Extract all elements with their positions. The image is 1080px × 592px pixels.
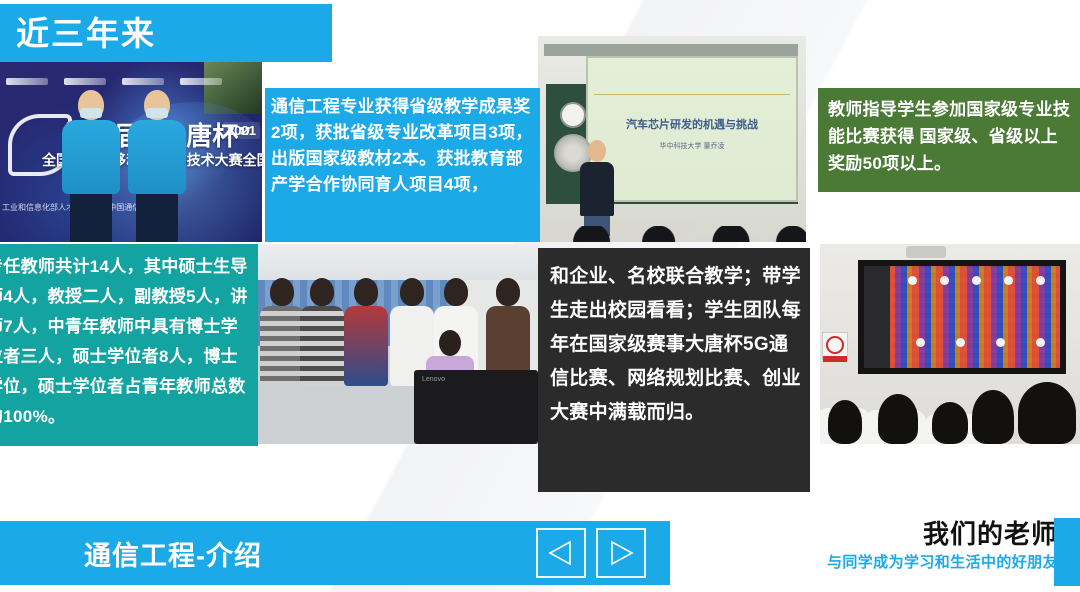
prev-slide-button[interactable] xyxy=(536,528,586,578)
photo-lecture-rail xyxy=(544,44,798,56)
footer-title: 通信工程-介绍 xyxy=(84,534,262,573)
photo-lecture-projection-screen: 汽车芯片研发的机遇与挑战 华中科技大学 董乔凌 xyxy=(586,56,798,202)
slide-root: 近三年来 第八届 “大唐杯” 全国大学生移动通信5G技术大赛全国总决赛 2021… xyxy=(0,0,1080,592)
photo-pcb-tool-panel xyxy=(864,266,890,368)
photo-competition-student-2 xyxy=(128,90,186,242)
text-block-teaching-body: 和企业、名校联合教学；带学生走出校园看看；学生团队每年在国家级赛事大唐杯5G通信… xyxy=(550,260,804,430)
header-banner: 近三年来 xyxy=(0,4,332,62)
text-block-faculty-body: 专任教师共计14人，其中硕士生导师4人，教授二人，副教授5人，讲师7人，中青年教… xyxy=(0,252,254,432)
text-block-awards: 教师指导学生参加国家级专业技能比赛获得 国家级、省级以上奖励50项以上。 xyxy=(818,88,1080,192)
text-block-achievements: 通信工程专业获得省级教学成果奖2项，获批省级专业改革项目3项，出版国家级教材2本… xyxy=(265,88,540,242)
photo-competition-year: 2021 xyxy=(223,122,260,139)
photo-competition-student-1 xyxy=(62,90,120,242)
photo-pcb-classroom xyxy=(820,244,1080,444)
monitor-brand-label: Lenovo xyxy=(422,376,445,383)
photo-lecture: 汽车芯片研发的机遇与挑战 华中科技大学 董乔凌 xyxy=(538,36,806,242)
photo-lecture-screen-org: 华中科技大学 董乔凌 xyxy=(588,142,796,152)
photo-competition-sponsor-logos xyxy=(6,76,246,87)
footer-right-accent-chip xyxy=(1054,518,1080,586)
footer-right-subtitle: 与同学成为学习和生活中的好朋友 xyxy=(827,552,1058,574)
triangle-left-icon xyxy=(547,539,575,567)
text-block-awards-body: 教师指导学生参加国家级专业技能比赛获得 国家级、省级以上奖励50项以上。 xyxy=(828,96,1072,177)
photo-competition: 第八届 “大唐杯” 全国大学生移动通信5G技术大赛全国总决赛 2021 工业和信… xyxy=(0,62,262,242)
no-smoking-sign-icon xyxy=(822,332,848,360)
triangle-right-icon xyxy=(607,539,635,567)
photo-lab: Lenovo xyxy=(258,244,540,444)
text-block-teaching: 和企业、名校联合教学；带学生走出校园看看；学生团队每年在国家级赛事大唐杯5G通信… xyxy=(538,248,810,492)
footer-bar: 通信工程-介绍 xyxy=(0,521,670,585)
photo-lecture-speaker xyxy=(580,140,614,236)
photo-lecture-audience xyxy=(538,226,806,242)
wall-clock-icon xyxy=(560,102,586,128)
photo-lab-person-2 xyxy=(300,278,344,386)
photo-lab-person-3 xyxy=(344,278,388,386)
photo-pcb-audience xyxy=(820,372,1080,444)
photo-lab-person-1 xyxy=(260,278,304,386)
footer-right-title: 我们的老师 xyxy=(827,518,1058,550)
page-title: 近三年来 xyxy=(16,17,156,50)
slide-navigation xyxy=(536,528,646,578)
photo-lecture-screen-title: 汽车芯片研发的机遇与挑战 xyxy=(588,116,796,132)
photo-pcb-layout-image xyxy=(864,266,1060,368)
next-slide-button[interactable] xyxy=(596,528,646,578)
text-block-faculty: 专任教师共计14人，其中硕士生导师4人，教授二人，副教授5人，讲师7人，中青年教… xyxy=(0,244,258,446)
photo-lab-monitor: Lenovo xyxy=(414,370,538,444)
projector-icon xyxy=(906,246,946,258)
footer-right-text: 我们的老师 与同学成为学习和生活中的好朋友 xyxy=(827,518,1058,574)
text-block-achievements-body: 通信工程专业获得省级教学成果奖2项，获批省级专业改革项目3项，出版国家级教材2本… xyxy=(271,94,538,198)
